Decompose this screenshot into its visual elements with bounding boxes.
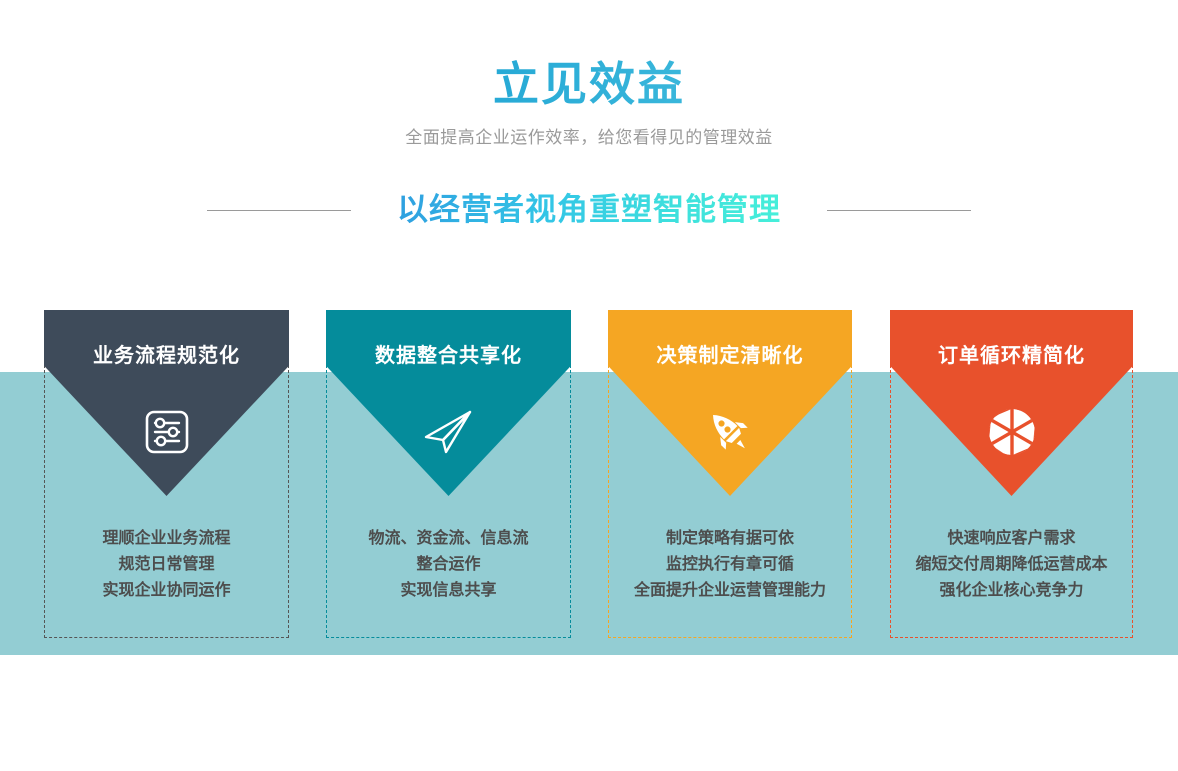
rocket-icon	[609, 401, 851, 463]
card-title: 业务流程规范化	[45, 339, 288, 368]
feature-card-decision-clarity[interactable]: 决策制定清晰化 制定策略有据可依 监控执行有章可循 全面提升企业运营管理能力	[608, 310, 852, 638]
feature-card-data-sharing[interactable]: 数据整合共享化 物流、资金流、信息流 整合运作 实现信息共享	[326, 310, 571, 638]
feature-card-list: 业务流程规范化 理顺企业业务流程 规范日常管理 实现企业协同运作 数据整合共享化	[0, 0, 1178, 771]
card-title: 数据整合共享化	[327, 339, 570, 368]
aperture-icon	[891, 401, 1132, 463]
card-body-text: 物流、资金流、信息流 整合运作 实现信息共享	[327, 526, 570, 604]
feature-card-business-process[interactable]: 业务流程规范化 理顺企业业务流程 规范日常管理 实现企业协同运作	[44, 310, 289, 638]
page-root: 立见效益 全面提高企业运作效率，给您看得见的管理效益 以经营者视角重塑智能管理 …	[0, 0, 1178, 771]
card-body-text: 快速响应客户需求 缩短交付周期降低运营成本 强化企业核心竞争力	[891, 526, 1132, 604]
sliders-icon	[45, 401, 288, 463]
paper-plane-icon	[327, 401, 570, 463]
card-title: 订单循环精简化	[891, 339, 1132, 368]
card-body-text: 制定策略有据可依 监控执行有章可循 全面提升企业运营管理能力	[609, 526, 851, 604]
card-title: 决策制定清晰化	[609, 339, 851, 368]
card-body-text: 理顺企业业务流程 规范日常管理 实现企业协同运作	[45, 526, 288, 604]
feature-card-order-cycle[interactable]: 订单循环精简化	[890, 310, 1133, 638]
